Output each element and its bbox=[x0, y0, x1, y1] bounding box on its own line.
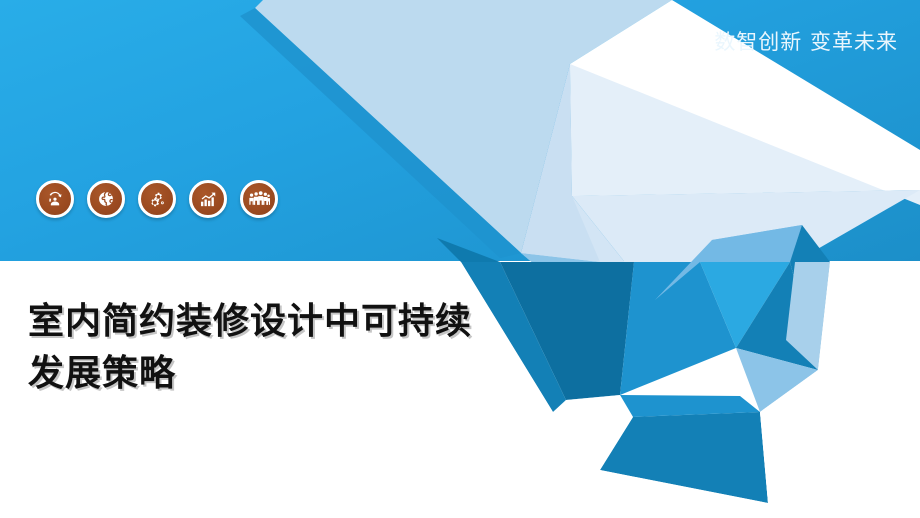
globe-glyph bbox=[96, 189, 116, 209]
people-group-icon[interactable] bbox=[240, 180, 278, 218]
bar-chart-growth-icon[interactable] bbox=[189, 180, 227, 218]
people-group-glyph bbox=[248, 189, 270, 209]
recycle-people-icon[interactable] bbox=[36, 180, 74, 218]
low-poly-paper-plane-artwork bbox=[0, 0, 920, 518]
title-line-2: 发展策略 bbox=[28, 348, 548, 400]
title-line-1: 室内简约装修设计中可持续 bbox=[28, 296, 548, 348]
globe-icon[interactable] bbox=[87, 180, 125, 218]
bar-chart-growth-glyph bbox=[198, 189, 219, 210]
tagline-text: 数智创新 变革未来 bbox=[714, 26, 898, 56]
page-title: 室内简约装修设计中可持续 发展策略 bbox=[28, 296, 548, 400]
icon-strip bbox=[36, 180, 278, 218]
presentation-title-slide: 数智创新 变革未来 bbox=[0, 0, 920, 518]
gears-glyph bbox=[147, 189, 168, 210]
recycle-people-glyph bbox=[45, 189, 65, 209]
gears-icon[interactable] bbox=[138, 180, 176, 218]
